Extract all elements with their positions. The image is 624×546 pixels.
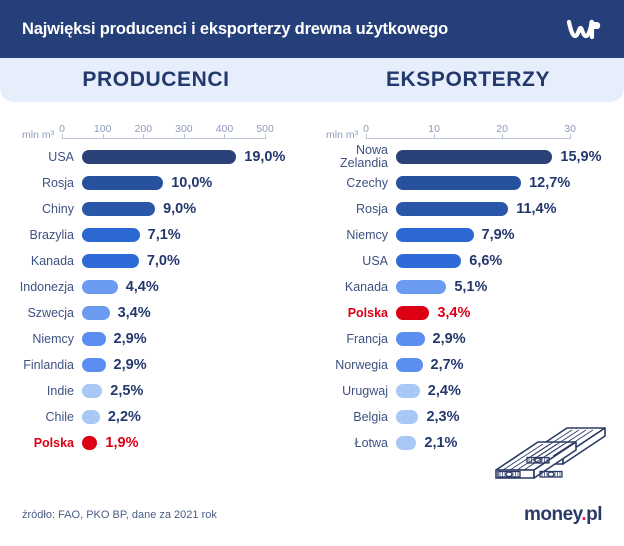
bar-area: 15,9%	[396, 149, 624, 165]
page-header: Najwięksi producenci i eksporterzy drewn…	[0, 0, 624, 58]
bar-value-label: 12,7%	[529, 175, 570, 191]
bar-area: 5,1%	[396, 279, 624, 295]
bar-area: 2,5%	[82, 383, 312, 399]
axis-tick-label: 300	[175, 123, 193, 135]
money-logo-suffix: pl	[586, 504, 602, 525]
axis-tick-label: 400	[216, 123, 234, 135]
bar-row: USA19,0%	[0, 144, 312, 170]
bar-row: Polska3,4%	[312, 300, 624, 326]
bar-area: 10,0%	[82, 175, 312, 191]
axis-unit-label-right: mln m³	[326, 129, 358, 144]
bar-row-label: Chiny	[0, 203, 82, 216]
bar-area: 3,4%	[396, 305, 624, 321]
bar-row: Polska1,9%	[0, 430, 312, 456]
bar-area: 12,7%	[396, 175, 624, 191]
bar-row-label: Niemcy	[0, 333, 82, 346]
section-title-eksporterzy: EKSPORTERZY	[386, 68, 550, 92]
bar-value-label: 2,2%	[108, 409, 141, 425]
bar	[82, 358, 106, 372]
axis-tick-label: 30	[564, 123, 576, 135]
bar-row-label: Kanada	[312, 281, 396, 294]
bar-row-label: Belgia	[312, 411, 396, 424]
bar-rows-producenci: USA19,0%Rosja10,0%Chiny9,0%Brazylia7,1%K…	[0, 144, 312, 456]
bar-row-label: Szwecja	[0, 307, 82, 320]
bar	[396, 254, 461, 268]
charts-container: mln m³ 0100200300400500 USA19,0%Rosja10,…	[0, 102, 624, 456]
bar-row-label: Czechy	[312, 177, 396, 190]
bar-row-label: Francja	[312, 333, 396, 346]
bar	[82, 384, 102, 398]
bar-row: Czechy12,7%	[312, 170, 624, 196]
bar-area: 7,1%	[82, 227, 312, 243]
bar-value-label: 2,9%	[433, 331, 466, 347]
bar-value-label: 7,9%	[482, 227, 515, 243]
bar-value-label: 2,7%	[431, 357, 464, 373]
bar-value-label: 2,4%	[428, 383, 461, 399]
bar-row: Chile2,2%	[0, 404, 312, 430]
bar-row-label: Brazylia	[0, 229, 82, 242]
bar-row: Francja2,9%	[312, 326, 624, 352]
chart-producenci: mln m³ 0100200300400500 USA19,0%Rosja10,…	[0, 114, 312, 456]
bar	[82, 176, 163, 190]
section-title-right-wrap: EKSPORTERZY	[312, 58, 624, 102]
bar-area: 2,4%	[396, 383, 624, 399]
bar-row: Indonezja4,4%	[0, 274, 312, 300]
bar-row-label: USA	[312, 255, 396, 268]
axis-tick-label: 0	[363, 123, 369, 135]
bar-row: Finlandia2,9%	[0, 352, 312, 378]
axis-tick-label: 0	[59, 123, 65, 135]
bar-area: 6,6%	[396, 253, 624, 269]
bar-value-label: 6,6%	[469, 253, 502, 269]
bar-value-label: 1,9%	[105, 435, 138, 451]
bar-value-label: 2,9%	[114, 331, 147, 347]
bar-row: Chiny9,0%	[0, 196, 312, 222]
bar-row: Rosja11,4%	[312, 196, 624, 222]
bar-row-label: Chile	[0, 411, 82, 424]
bar-row-label: Nowa Zelandia	[312, 144, 396, 170]
bar-value-label: 7,0%	[147, 253, 180, 269]
bar-row: Niemcy2,9%	[0, 326, 312, 352]
bar	[82, 254, 139, 268]
axis-producenci: mln m³ 0100200300400500	[0, 114, 312, 144]
bar-row-label: Polska	[312, 307, 396, 320]
bar-row-label: Indonezja	[0, 281, 82, 294]
bar-value-label: 10,0%	[171, 175, 212, 191]
bar-value-label: 3,4%	[118, 305, 151, 321]
bar	[82, 410, 100, 424]
bar-area: 19,0%	[82, 149, 312, 165]
bar-row-label: Kanada	[0, 255, 82, 268]
bar-area: 7,9%	[396, 227, 624, 243]
bar-row: Kanada7,0%	[0, 248, 312, 274]
axis-unit-label-left: mln m³	[22, 129, 54, 144]
bar-area: 1,9%	[82, 435, 312, 451]
bar-row: Kanada5,1%	[312, 274, 624, 300]
bar	[396, 228, 474, 242]
bar	[82, 436, 97, 450]
bar-value-label: 7,1%	[148, 227, 181, 243]
page-title: Najwięksi producenci i eksporterzy drewn…	[22, 20, 448, 39]
bar	[396, 280, 446, 294]
bar-row-label: Finlandia	[0, 359, 82, 372]
bar	[396, 358, 423, 372]
bar-area: 7,0%	[82, 253, 312, 269]
money-logo-main: money	[524, 504, 581, 525]
bar	[396, 306, 429, 320]
bar	[396, 176, 521, 190]
bar-area: 2,9%	[396, 331, 624, 347]
bar-row-label: Indie	[0, 385, 82, 398]
bar-row: Urugwaj2,4%	[312, 378, 624, 404]
stacked-lumber-illustration-icon	[492, 416, 610, 484]
axis-line-right	[366, 138, 570, 139]
bar-rows-eksporterzy: Nowa Zelandia15,9%Czechy12,7%Rosja11,4%N…	[312, 144, 624, 456]
axis-eksporterzy: mln m³ 0102030	[312, 114, 624, 144]
chart-eksporterzy: mln m³ 0102030 Nowa Zelandia15,9%Czechy1…	[312, 114, 624, 456]
bar-area: 2,9%	[82, 357, 312, 373]
bar-row-label: USA	[0, 151, 82, 164]
bar-area: 2,2%	[82, 409, 312, 425]
axis-tick-label: 20	[496, 123, 508, 135]
bar-row-label: Rosja	[312, 203, 396, 216]
bar-area: 11,4%	[396, 201, 624, 217]
section-title-band: PRODUCENCI EKSPORTERZY	[0, 58, 624, 102]
bar	[396, 410, 418, 424]
bar-row-label: Polska	[0, 437, 82, 450]
bar-row: Indie2,5%	[0, 378, 312, 404]
bar-area: 2,9%	[82, 331, 312, 347]
bar	[396, 384, 420, 398]
bar-row-label: Łotwa	[312, 437, 396, 450]
bar	[82, 306, 110, 320]
axis-tick-label: 100	[94, 123, 112, 135]
bar-row: Norwegia2,7%	[312, 352, 624, 378]
bar-row-label: Niemcy	[312, 229, 396, 242]
bar-value-label: 2,9%	[114, 357, 147, 373]
bar-row: Nowa Zelandia15,9%	[312, 144, 624, 170]
bar-row: Niemcy7,9%	[312, 222, 624, 248]
bar	[396, 202, 508, 216]
axis-tick-label: 200	[135, 123, 153, 135]
bar-row: Szwecja3,4%	[0, 300, 312, 326]
bar-area: 9,0%	[82, 201, 312, 217]
section-title-producenci: PRODUCENCI	[82, 68, 229, 92]
bar-area: 4,4%	[82, 279, 312, 295]
bar-value-label: 19,0%	[244, 149, 285, 165]
bar-area: 3,4%	[82, 305, 312, 321]
bar-value-label: 15,9%	[560, 149, 601, 165]
bar-row: USA6,6%	[312, 248, 624, 274]
bar	[82, 202, 155, 216]
axis-track-right: 0102030	[366, 122, 570, 144]
bar-row-label: Rosja	[0, 177, 82, 190]
bar	[82, 228, 140, 242]
bar-value-label: 9,0%	[163, 201, 196, 217]
bar-row: Rosja10,0%	[0, 170, 312, 196]
bar-area: 2,7%	[396, 357, 624, 373]
wp-logo-icon	[566, 14, 606, 44]
bar-row-label: Urugwaj	[312, 385, 396, 398]
bar-value-label: 5,1%	[454, 279, 487, 295]
axis-track-left: 0100200300400500	[62, 122, 265, 144]
section-title-left-wrap: PRODUCENCI	[0, 58, 312, 102]
bar-value-label: 4,4%	[126, 279, 159, 295]
bar	[396, 332, 425, 346]
axis-tick-label: 10	[428, 123, 440, 135]
bar-value-label: 2,5%	[110, 383, 143, 399]
page-footer: źródło: FAO, PKO BP, dane za 2021 rok mo…	[0, 490, 624, 546]
axis-tick-label: 500	[256, 123, 274, 135]
bar-row-label: Norwegia	[312, 359, 396, 372]
bar	[396, 436, 416, 450]
bar	[396, 150, 552, 164]
bar-row: Brazylia7,1%	[0, 222, 312, 248]
bar-value-label: 3,4%	[437, 305, 470, 321]
bar	[82, 150, 236, 164]
bar	[82, 332, 106, 346]
bar-value-label: 11,4%	[516, 201, 556, 217]
axis-line-left	[62, 138, 265, 139]
bar	[82, 280, 118, 294]
source-note: źródło: FAO, PKO BP, dane za 2021 rok	[22, 509, 217, 521]
money-pl-logo: money.pl	[524, 504, 602, 526]
bar-value-label: 2,1%	[424, 435, 457, 451]
bar-value-label: 2,3%	[426, 409, 459, 425]
